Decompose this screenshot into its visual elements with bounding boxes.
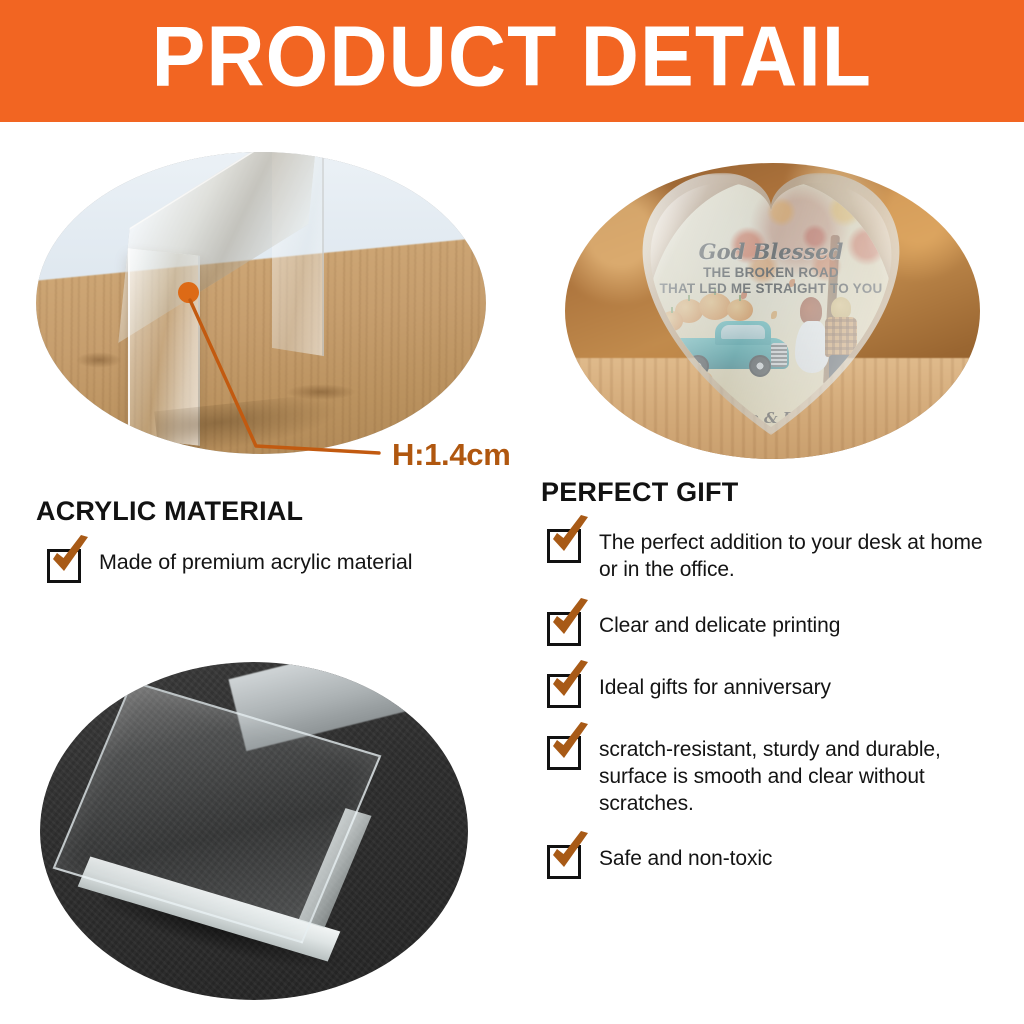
pumpkin <box>851 361 881 387</box>
section-heading-perfect-gift: PERFECT GIFT <box>541 477 738 508</box>
checkbox-checked[interactable] <box>547 674 581 708</box>
checkmark-icon <box>47 535 94 579</box>
feature-item[interactable]: scratch-resistant, sturdy and durable, s… <box>547 734 1002 818</box>
feature-text: Clear and delicate printing <box>599 610 840 639</box>
feature-text: Safe and non-toxic <box>599 843 772 872</box>
groom-shoe <box>841 382 855 389</box>
photo-edge-inner <box>36 152 486 454</box>
wood-table-scene <box>36 152 486 454</box>
feature-item[interactable]: The perfect addition to your desk at hom… <box>547 527 1002 584</box>
feature-text: The perfect addition to your desk at hom… <box>599 527 1002 584</box>
feature-item[interactable]: Clear and delicate printing <box>547 610 1002 646</box>
checkmark-icon <box>547 598 594 642</box>
photo-heart-plaque-personalized: God Blessed THE BROKEN ROAD THAT LED ME … <box>565 163 980 459</box>
feature-list-acrylic-material: Made of premium acrylic material <box>47 547 517 605</box>
feature-text: scratch-resistant, sturdy and durable, s… <box>599 734 1002 818</box>
photo-acrylic-slab-on-slate <box>40 662 468 1000</box>
checkbox-checked[interactable] <box>547 529 581 563</box>
feature-item[interactable]: Made of premium acrylic material <box>47 547 517 583</box>
checkbox-checked[interactable] <box>547 845 581 879</box>
plaque-beveled-rim <box>639 173 903 435</box>
checkbox-checked[interactable] <box>547 612 581 646</box>
feature-item[interactable]: Safe and non-toxic <box>547 843 1002 879</box>
dimension-label: H:1.4cm <box>392 437 511 473</box>
checkmark-icon <box>547 660 594 704</box>
thickness-marker-dot <box>178 282 199 303</box>
pumpkin <box>669 367 695 390</box>
photo-acrylic-edge-on-wood-table <box>36 152 486 454</box>
feature-text: Ideal gifts for anniversary <box>599 672 831 701</box>
checkmark-icon <box>547 515 594 559</box>
checkmark-icon <box>547 831 594 875</box>
wood-grain-knot <box>76 352 122 368</box>
feature-text: Made of premium acrylic material <box>99 547 412 577</box>
header-banner: PRODUCT DETAIL <box>0 0 1024 122</box>
section-heading-acrylic-material: ACRYLIC MATERIAL <box>36 496 303 527</box>
photo-slab-inner <box>40 662 468 1000</box>
heart-acrylic-plaque: God Blessed THE BROKEN ROAD THAT LED ME … <box>645 179 897 429</box>
checkbox-checked[interactable] <box>547 736 581 770</box>
checkbox-checked[interactable] <box>47 549 81 583</box>
feature-list-perfect-gift: The perfect addition to your desk at hom… <box>547 527 1002 905</box>
checkmark-icon <box>547 722 594 766</box>
feature-item[interactable]: Ideal gifts for anniversary <box>547 672 1002 708</box>
page-title: PRODUCT DETAIL <box>152 15 872 107</box>
product-detail-infographic: PRODUCT DETAIL H:1.4cm <box>0 0 1024 1024</box>
